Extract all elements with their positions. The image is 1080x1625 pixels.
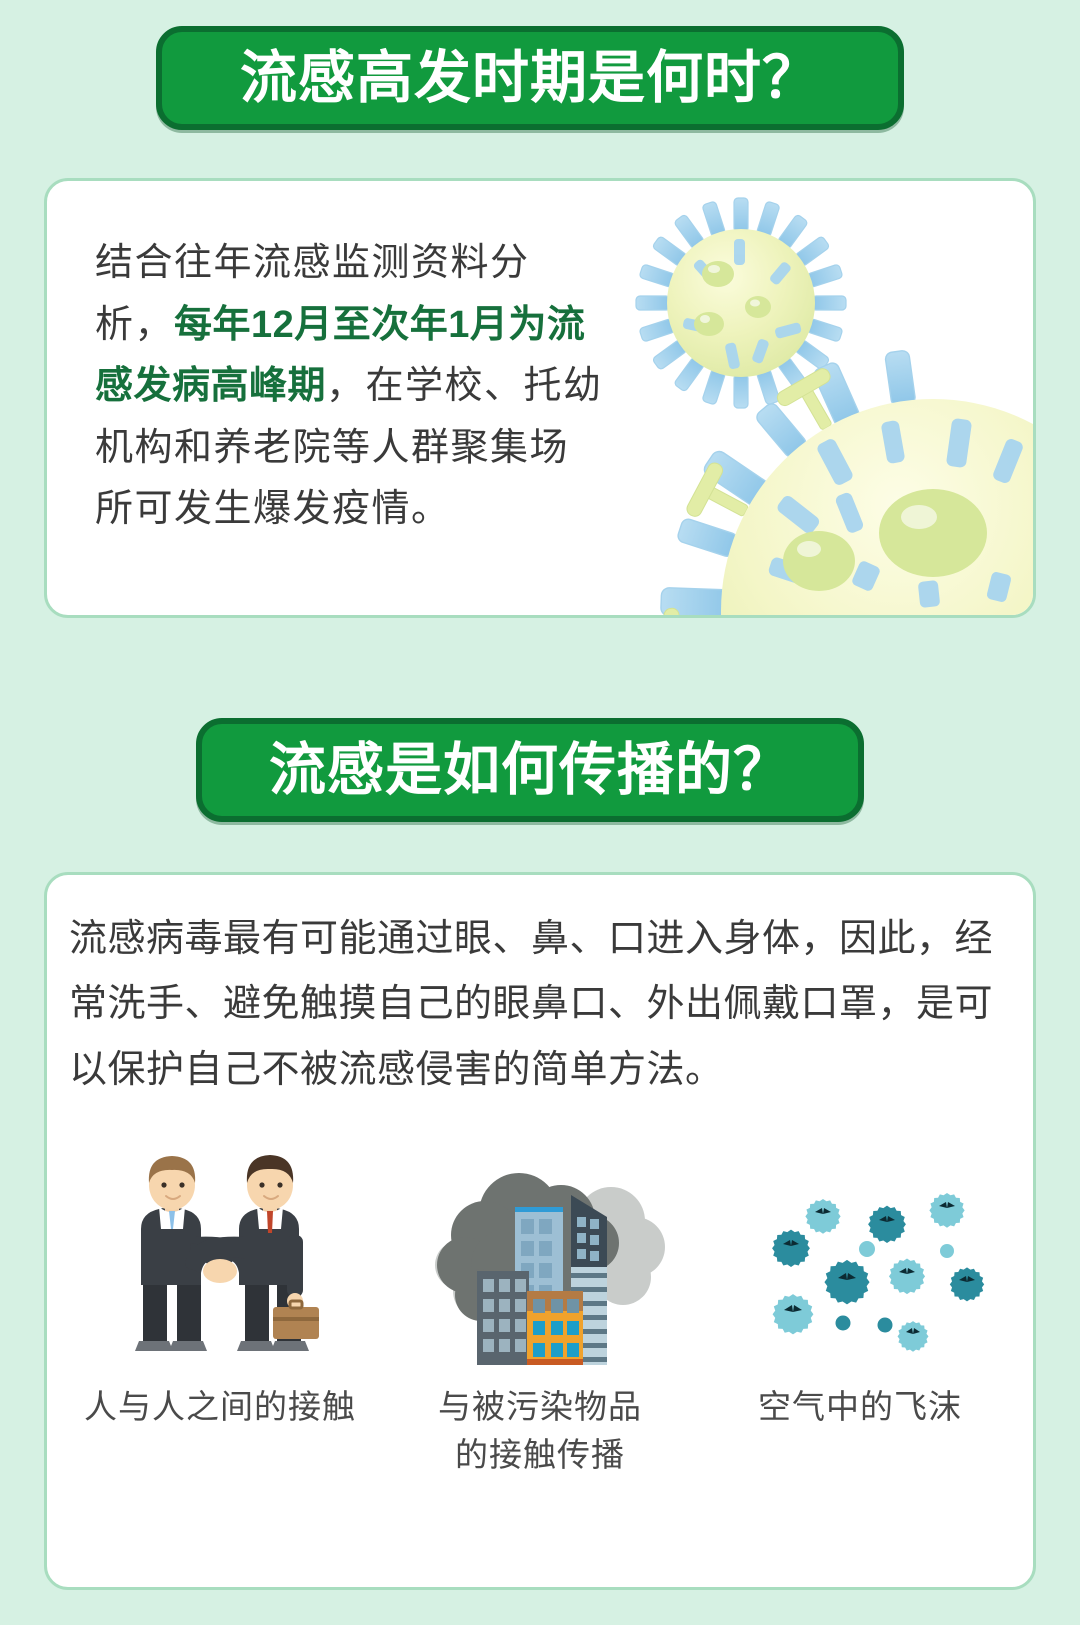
route-contaminated-objects: 与被污染物品 的接触传播 <box>385 1125 695 1479</box>
route-caption: 人与人之间的接触 <box>84 1383 356 1431</box>
route-person-to-person: 人与人之间的接触 <box>65 1125 375 1479</box>
right-businessman <box>185 1155 319 1351</box>
section-banner-title: 流感高发时期是何时？ <box>240 50 820 107</box>
route-airborne-droplets: 空气中的飞沫 <box>705 1125 1015 1479</box>
flu-season-card: 结合往年流感监测资料分析，每年12月至次年1月为流感发病高峰期，在学校、托幼机构… <box>44 178 1036 618</box>
handshake-businessmen-icon <box>95 1125 345 1365</box>
infographic-page: 流感高发时期是何时？ 结合往年流感监测资料分析，每年12月至次年1月为流感发病高… <box>0 0 1080 1625</box>
section-banner-title: 流感是如何传播的？ <box>269 742 791 799</box>
large-virus-body <box>661 350 1033 617</box>
route-caption: 空气中的飞沫 <box>758 1383 962 1431</box>
transmission-card: 流感病毒最有可能通过眼、鼻、口进入身体，因此，经常洗手、避免触摸自己的眼鼻口、外… <box>44 872 1036 1590</box>
transmission-paragraph: 流感病毒最有可能通过眼、鼻、口进入身体，因此，经常洗手、避免触摸自己的眼鼻口、外… <box>69 907 1017 1103</box>
flu-season-paragraph: 结合往年流感监测资料分析，每年12月至次年1月为流感发病高峰期，在学校、托幼机构… <box>95 233 605 541</box>
section-banner-transmission: 流感是如何传播的？ <box>196 718 864 822</box>
polluted-city-buildings-icon <box>415 1125 665 1365</box>
section-banner-flu-season: 流感高发时期是何时？ <box>156 26 904 130</box>
influenza-virus-illustration <box>603 181 1033 617</box>
route-caption: 与被污染物品 的接触传播 <box>438 1383 642 1479</box>
airborne-germs-icon <box>735 1125 985 1365</box>
germ-cluster <box>772 1193 984 1352</box>
transmission-routes: 人与人之间的接触 <box>47 1125 1033 1479</box>
small-virus-spikes <box>636 198 846 408</box>
